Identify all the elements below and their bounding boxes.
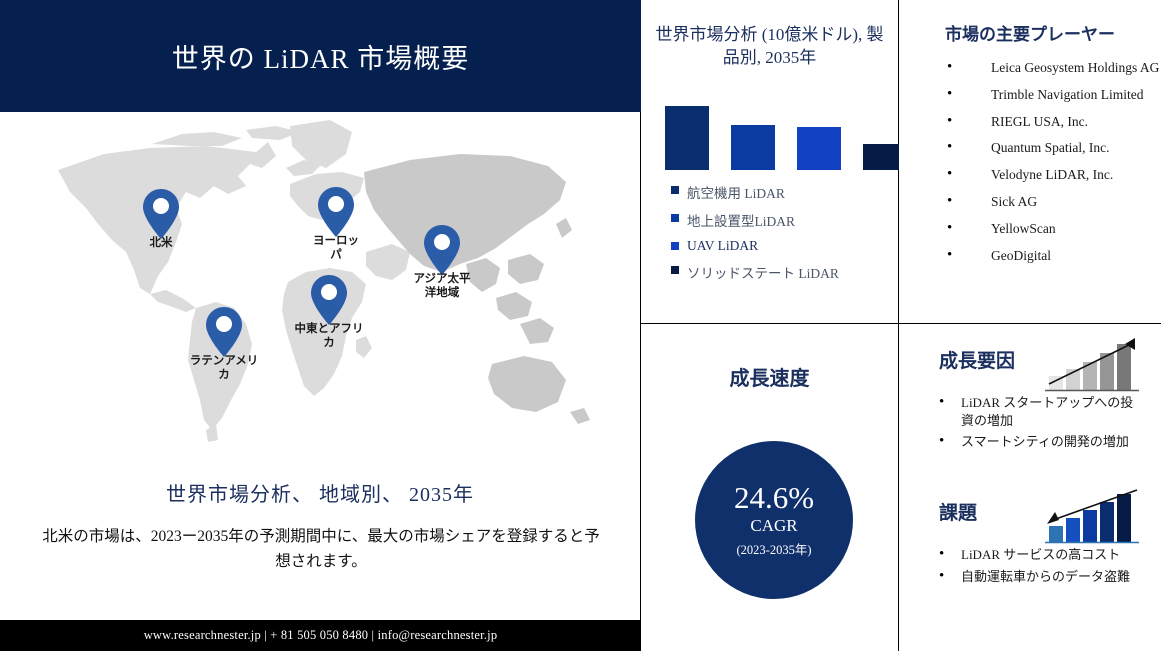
cagr-label: CAGR	[750, 516, 797, 536]
map-pin-label: ラテンアメリカ	[188, 354, 260, 383]
map-pin-europe[interactable]: ヨーロッパ	[316, 186, 356, 263]
left-panel: 世界の LiDAR 市場概要	[0, 0, 641, 651]
infographic-page: 世界の LiDAR 市場概要	[0, 0, 1161, 651]
chart-bar	[797, 127, 841, 170]
map-pin-label: 中東とアフリカ	[293, 322, 365, 351]
map-pin-label: ヨーロッパ	[308, 234, 364, 263]
drivers-header: 成長要因	[899, 332, 1161, 394]
legend-swatch-icon	[671, 266, 679, 274]
challenge-list-item: LiDAR サービスの高コスト	[899, 546, 1143, 568]
location-pin-icon	[204, 306, 244, 358]
footer-bar: www.researchnester.jp | + 81 505 050 848…	[0, 620, 641, 651]
chart-title: 世界市場分析 (10億米ドル), 製品別, 2035年	[641, 0, 898, 70]
drivers-title: 成長要因	[939, 346, 1015, 373]
player-list-item: Quantum Spatial, Inc.	[899, 141, 1161, 168]
player-list-item: Trimble Navigation Limited	[899, 88, 1161, 115]
growth-drivers-block: 成長要因 LiDAR スタートアップへの投資の増加スマートシティの開発の増加	[899, 332, 1161, 455]
legend-swatch-icon	[671, 186, 679, 194]
cagr-badge: 24.6% CAGR (2023-2035年)	[695, 441, 853, 599]
drivers-list: LiDAR スタートアップへの投資の増加スマートシティの開発の増加	[899, 394, 1161, 455]
map-pin-middle-east-africa[interactable]: 中東とアフリカ	[309, 274, 349, 351]
driver-list-item: LiDAR スタートアップへの投資の増加	[899, 394, 1143, 433]
challenges-list: LiDAR サービスの高コスト自動運転車からのデータ盗難	[899, 546, 1161, 589]
location-pin-icon	[316, 186, 356, 238]
header-bar: 世界の LiDAR 市場概要	[0, 0, 641, 112]
players-list: Leica Geosystem Holdings AGTrimble Navig…	[899, 61, 1161, 276]
map-caption: 世界市場分析、 地域別、 2035年	[0, 478, 640, 507]
key-players-panel: 市場の主要プレーヤー Leica Geosystem Holdings AGTr…	[899, 0, 1161, 324]
legend-swatch-icon	[671, 242, 679, 250]
drivers-challenges-panel: 成長要因 LiDAR スタートアップへの投資の増加スマートシティの開発の増加 課…	[899, 324, 1161, 651]
legend-swatch-icon	[671, 214, 679, 222]
player-list-item: GeoDigital	[899, 249, 1161, 276]
world-map: 北米 ヨーロッパ アジア太平洋地域	[0, 112, 640, 470]
page-title: 世界の LiDAR 市場概要	[172, 37, 470, 76]
chart-bar	[731, 125, 775, 170]
legend-item: ソリッドステート LiDAR	[671, 262, 898, 282]
location-pin-icon	[309, 274, 349, 326]
players-title: 市場の主要プレーヤー	[899, 0, 1161, 47]
map-pin-label: 北米	[119, 236, 203, 250]
cagr-value: 24.6%	[734, 482, 814, 515]
driver-list-item: スマートシティの開発の増加	[899, 433, 1143, 455]
footer-contact-text: www.researchnester.jp | + 81 505 050 848…	[144, 628, 498, 643]
bar-chart-plot	[665, 92, 882, 170]
market-analysis-chart-panel: 世界市場分析 (10億米ドル), 製品別, 2035年 航空機用 LiDAR地上…	[641, 0, 899, 324]
chart-legend: 航空機用 LiDAR地上設置型LiDARUAV LiDARソリッドステート Li…	[671, 182, 898, 282]
map-landmasses	[58, 120, 410, 442]
map-landmasses-asia	[364, 154, 590, 424]
player-list-item: YellowScan	[899, 222, 1161, 249]
chart-bar	[665, 106, 709, 170]
legend-item: 地上設置型LiDAR	[671, 210, 898, 230]
legend-label: 地上設置型LiDAR	[687, 210, 795, 230]
challenge-list-item: 自動運転車からのデータ盗難	[899, 568, 1143, 590]
legend-item: 航空機用 LiDAR	[671, 182, 898, 202]
ascending-bar-chart-down-arrow-icon	[1043, 488, 1143, 544]
legend-item: UAV LiDAR	[671, 238, 898, 254]
map-pin-north-america[interactable]: 北米	[141, 188, 181, 250]
map-subtext: 北米の市場は、2023ー2035年の予測期間中に、最大の市場シェアを登録すると予…	[38, 525, 604, 575]
player-list-item: Sick AG	[899, 195, 1161, 222]
growth-rate-panel: 成長速度 24.6% CAGR (2023-2035年)	[641, 324, 899, 651]
cagr-title: 成長速度	[641, 324, 898, 393]
map-pin-label: アジア太平洋地域	[410, 272, 474, 301]
challenges-title: 課題	[939, 498, 977, 525]
location-pin-icon	[422, 224, 462, 276]
legend-label: 航空機用 LiDAR	[687, 182, 785, 202]
legend-label: ソリッドステート LiDAR	[687, 262, 839, 282]
player-list-item: RIEGL USA, Inc.	[899, 115, 1161, 142]
cagr-period: (2023-2035年)	[737, 539, 812, 558]
location-pin-icon	[141, 188, 181, 240]
challenges-header: 課題	[899, 484, 1161, 546]
challenges-block: 課題 LiDAR サービスの高コスト自動運転車からのデータ盗難	[899, 484, 1161, 589]
player-list-item: Velodyne LiDAR, Inc.	[899, 168, 1161, 195]
player-list-item: Leica Geosystem Holdings AG	[899, 61, 1161, 88]
map-pin-asia-pacific[interactable]: アジア太平洋地域	[422, 224, 462, 301]
legend-label: UAV LiDAR	[687, 238, 758, 254]
ascending-bar-chart-up-arrow-icon	[1043, 336, 1143, 392]
map-pin-latin-america[interactable]: ラテンアメリカ	[204, 306, 244, 383]
